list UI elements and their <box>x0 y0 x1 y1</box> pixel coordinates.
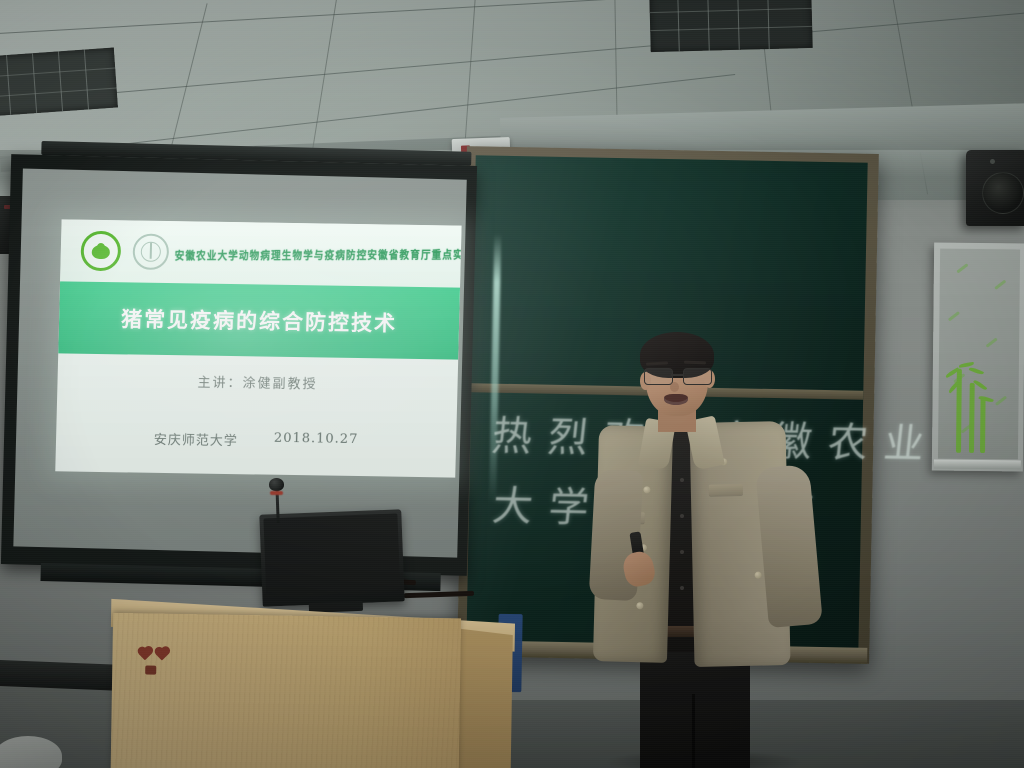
eyeglasses-icon <box>644 368 712 383</box>
lectern <box>103 593 512 768</box>
presenter-mouth <box>664 394 688 405</box>
slide-lab-name: 安徽农业大学动物病理生物学与疫病防控安徽省教育厅重点实验室 <box>169 246 462 263</box>
microphone-indicator <box>270 491 283 495</box>
speaker-cone <box>982 172 1024 214</box>
laboratory-emblem-icon <box>132 234 169 271</box>
lecture-hall-photo: 热烈欢迎安徽农业 大学专家讲座 安徽农业大学动物病理生物学与疫病防控安徽省教育厅… <box>0 0 1024 768</box>
speaker-led <box>990 159 995 164</box>
slide-date: 2018.10.27 <box>274 431 359 451</box>
presenter <box>586 334 836 768</box>
lectern-front-panel <box>111 613 461 768</box>
slide-title: 猪常见疫病的综合防控技术 <box>121 303 398 337</box>
ceiling-light-left-icon <box>0 48 118 117</box>
slide-presenter: 主讲：涂健副教授 <box>57 369 457 394</box>
monitor-screen <box>263 513 400 594</box>
university-emblem-icon <box>80 231 121 272</box>
lectern-monitor <box>259 509 404 606</box>
wall-speaker-icon <box>966 150 1024 226</box>
heart-sticker-icon <box>140 649 149 658</box>
framed-bamboo-picture <box>932 243 1024 472</box>
microphone-head-icon <box>269 478 284 491</box>
bamboo-illustration-icon <box>942 343 995 454</box>
picture-frame-base <box>934 460 1021 470</box>
projected-slide: 安徽农业大学动物病理生物学与疫病防控安徽省教育厅重点实验室 猪常见疫病的综合防控… <box>55 219 461 477</box>
heart-sticker-icon <box>157 650 166 659</box>
lectern-side-panel <box>455 628 513 768</box>
square-sticker-icon <box>145 665 156 674</box>
picture-inner <box>938 249 1020 460</box>
slide-header: 安徽农业大学动物病理生物学与疫病防控安徽省教育厅重点实验室 <box>60 219 462 287</box>
slide-footer: 安庆师范大学 2018.10.27 <box>56 427 456 452</box>
ceiling-light-right-icon <box>649 0 812 52</box>
slide-title-band: 猪常见疫病的综合防控技术 <box>58 281 460 359</box>
presenter-nose <box>670 382 679 392</box>
screen-surface: 安徽农业大学动物病理生物学与疫病防控安徽省教育厅重点实验室 猪常见疫病的综合防控… <box>13 168 466 557</box>
projection-screen: 安徽农业大学动物病理生物学与疫病防控安徽省教育厅重点实验室 猪常见疫病的综合防控… <box>1 154 477 576</box>
slide-organization: 安庆师范大学 <box>154 429 238 449</box>
